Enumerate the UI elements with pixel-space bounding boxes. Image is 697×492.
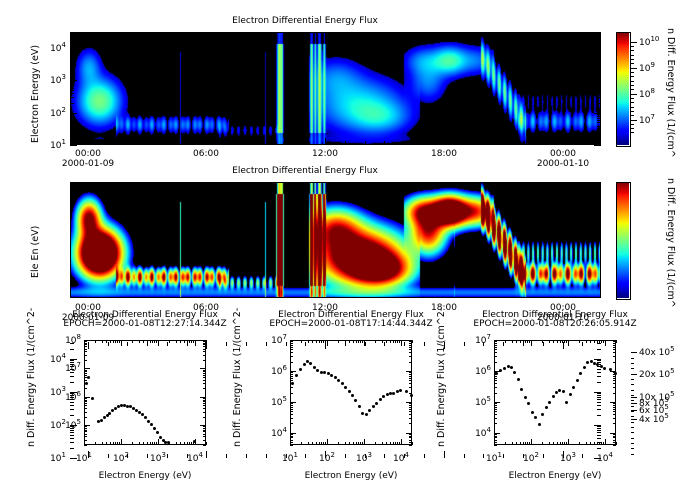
axis-tick — [613, 349, 616, 350]
axis-tick — [613, 411, 616, 412]
axis-tick — [531, 340, 532, 346]
axis-tick — [601, 340, 602, 343]
axis-tick — [529, 340, 530, 343]
axis-tick — [613, 403, 616, 404]
axis-tick — [613, 440, 616, 441]
axis-tick — [613, 378, 616, 379]
axis-tick — [613, 434, 616, 435]
axis-tick — [590, 340, 591, 343]
axis-tick — [613, 387, 616, 388]
axis-tick — [616, 340, 617, 343]
axis-tick — [523, 340, 524, 343]
axis-tick — [594, 442, 595, 445]
axis-tick — [613, 407, 616, 408]
axis-tick — [523, 442, 524, 445]
axis-tick — [605, 340, 606, 346]
axis-tick — [494, 445, 497, 446]
axis-tick — [613, 423, 616, 424]
axis-tick — [494, 411, 497, 412]
axis-tick — [605, 439, 606, 445]
line-panel-ytick-label: 106 — [464, 364, 491, 377]
data-point — [534, 416, 537, 419]
data-point — [545, 406, 548, 409]
axis-tick — [613, 445, 616, 446]
axis-tick — [560, 442, 561, 445]
data-point — [507, 365, 510, 368]
axis-tick — [549, 340, 550, 343]
axis-tick — [531, 439, 532, 445]
axis-tick — [494, 378, 497, 379]
data-point — [614, 372, 617, 375]
axis-tick — [568, 439, 569, 445]
axis-tick — [613, 383, 616, 384]
line-panel-ytick-label: 107 — [464, 333, 491, 346]
data-point — [510, 366, 513, 369]
axis-tick — [553, 340, 554, 343]
line-panel-ytick-label: 104 — [464, 426, 491, 439]
data-point — [562, 390, 565, 393]
axis-tick — [613, 380, 616, 381]
data-point — [531, 411, 534, 414]
axis-tick — [505, 340, 506, 343]
axis-tick — [516, 442, 517, 445]
axis-tick — [494, 436, 497, 437]
line-panel-ytick-label: 105 — [464, 395, 491, 408]
axis-tick — [613, 362, 616, 363]
data-point — [609, 368, 612, 371]
axis-tick — [494, 393, 497, 394]
axis-tick — [494, 356, 497, 357]
line-panel-3: Electron Differential Energy FluxEPOCH=2… — [0, 0, 697, 492]
axis-tick — [590, 442, 591, 445]
axis-tick — [494, 405, 497, 406]
data-point — [552, 395, 555, 398]
data-point — [586, 361, 589, 364]
axis-tick — [613, 345, 616, 346]
axis-tick — [494, 376, 497, 377]
axis-tick — [564, 442, 565, 445]
axis-tick — [549, 442, 550, 445]
axis-tick — [613, 356, 616, 357]
axis-tick — [529, 442, 530, 445]
axis-tick — [562, 442, 563, 445]
axis-tick — [525, 340, 526, 343]
line-panel-xtick-label: 103 — [552, 451, 584, 464]
data-point — [517, 378, 520, 381]
axis-tick — [562, 340, 563, 343]
data-point — [572, 386, 575, 389]
axis-tick — [520, 442, 521, 445]
axis-tick — [557, 442, 558, 445]
axis-tick — [601, 442, 602, 445]
axis-tick — [542, 442, 543, 445]
line-panel-xlabel: Electron Energy (eV) — [454, 471, 656, 481]
axis-tick — [586, 340, 587, 343]
axis-tick — [566, 340, 567, 343]
axis-tick — [494, 409, 497, 410]
axis-tick — [613, 405, 616, 406]
axis-tick — [599, 442, 600, 445]
axis-tick — [494, 439, 495, 445]
axis-tick — [616, 442, 617, 445]
axis-tick — [494, 423, 497, 424]
axis-tick — [568, 340, 569, 346]
axis-tick — [525, 442, 526, 445]
axis-tick — [516, 340, 517, 343]
axis-tick — [613, 436, 616, 437]
axis-tick — [494, 437, 497, 438]
axis-tick — [560, 340, 561, 343]
axis-tick — [613, 343, 616, 344]
axis-tick — [494, 414, 497, 415]
axis-tick — [579, 442, 580, 445]
axis-tick — [613, 347, 616, 348]
axis-tick — [613, 376, 616, 377]
line-panel-subtitle: EPOCH=2000-01-08T20:26:05.914Z — [422, 319, 688, 329]
data-point — [538, 423, 541, 426]
axis-tick — [527, 442, 528, 445]
axis-tick — [613, 409, 616, 410]
data-point — [576, 379, 579, 382]
axis-tick — [566, 442, 567, 445]
axis-tick — [494, 383, 497, 384]
axis-tick — [613, 414, 616, 415]
axis-tick — [527, 340, 528, 343]
axis-tick — [599, 340, 600, 343]
axis-tick — [494, 387, 497, 388]
line-panel-xtick-label: 102 — [515, 451, 547, 464]
line-panel-ylabel: n Diff. Energy Flux (1/(cm^2- — [436, 308, 447, 447]
axis-tick — [494, 403, 497, 404]
axis-tick — [494, 362, 497, 363]
axis-tick — [613, 437, 616, 438]
axis-tick — [494, 380, 497, 381]
axis-tick — [579, 340, 580, 343]
data-point — [541, 413, 544, 416]
axis-tick — [557, 340, 558, 343]
data-point — [524, 396, 527, 399]
axis-tick — [494, 347, 497, 348]
axis-tick — [613, 393, 616, 394]
axis-tick — [494, 407, 497, 408]
axis-tick — [553, 442, 554, 445]
line-panel-xtick-label: 104 — [589, 451, 621, 464]
axis-tick — [603, 442, 604, 445]
axis-tick — [613, 418, 616, 419]
data-point — [583, 366, 586, 369]
axis-tick — [564, 340, 565, 343]
axis-tick — [542, 340, 543, 343]
axis-tick — [505, 442, 506, 445]
axis-tick — [594, 340, 595, 343]
axis-tick — [494, 352, 497, 353]
axis-tick — [520, 340, 521, 343]
axis-tick — [494, 340, 495, 346]
line-panel-xtick-label: 101 — [478, 451, 510, 464]
data-point — [569, 393, 572, 396]
axis-tick — [586, 442, 587, 445]
axis-tick — [512, 442, 513, 445]
data-point — [503, 367, 506, 370]
axis-tick — [512, 340, 513, 343]
axis-tick — [597, 340, 598, 343]
axis-tick — [613, 352, 616, 353]
axis-tick — [603, 340, 604, 343]
axis-tick — [494, 418, 497, 419]
axis-tick — [494, 434, 497, 435]
axis-tick — [494, 349, 497, 350]
axis-tick — [597, 442, 598, 445]
